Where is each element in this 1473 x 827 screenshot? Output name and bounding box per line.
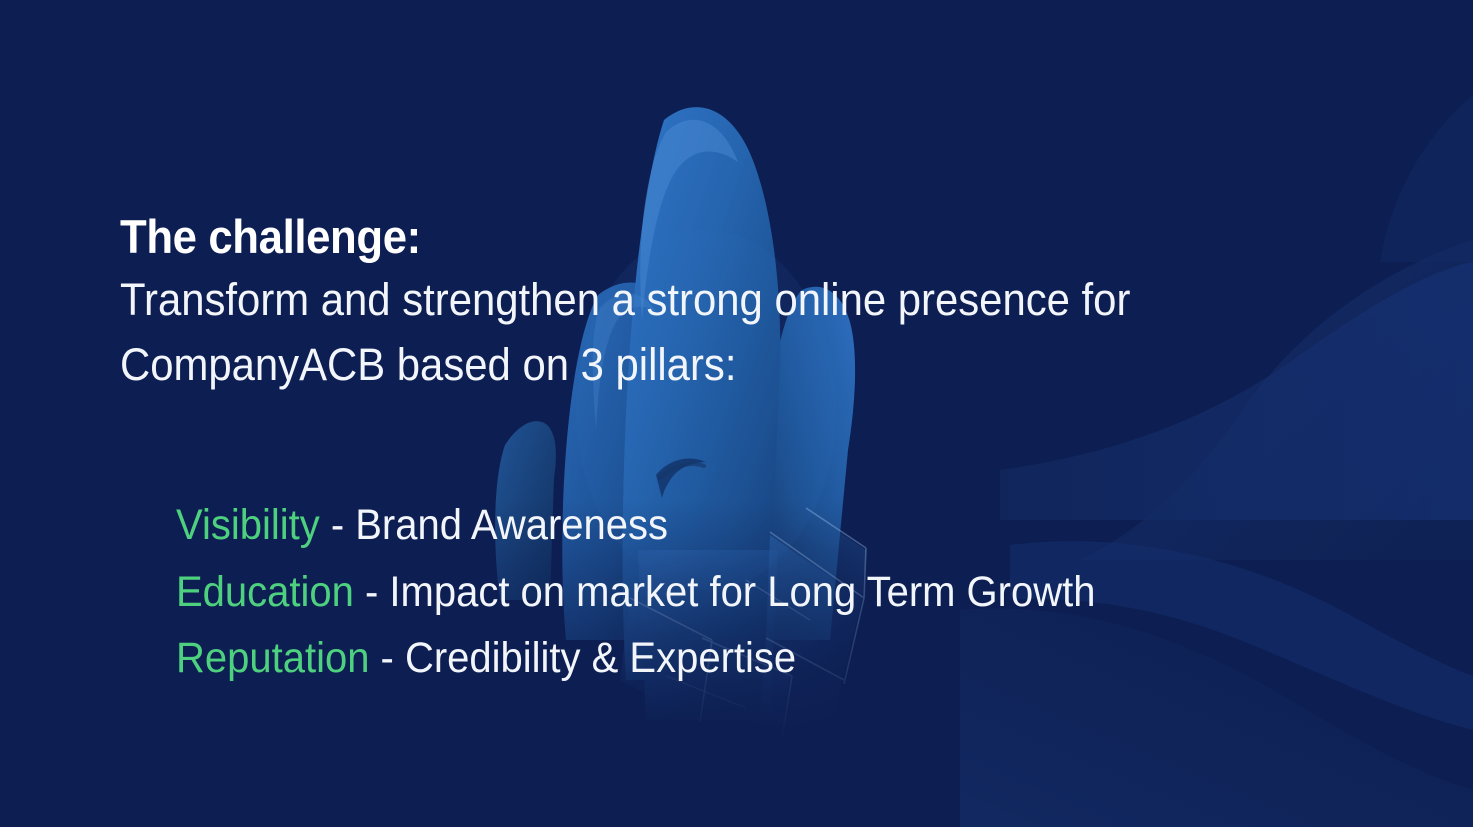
pillar-description-education: - Impact on market for Long Term Growth <box>354 568 1096 616</box>
pillar-item: Education - Impact on market for Long Te… <box>176 559 1339 626</box>
pillars-list: Visibility - Brand Awareness Education -… <box>176 492 1426 692</box>
page-title: The challenge: <box>120 212 1283 263</box>
presentation-slide: The challenge: Transform and strengthen … <box>0 0 1473 827</box>
pillar-item: Reputation - Credibility & Expertise <box>176 625 1339 692</box>
pillar-description-reputation: - Credibility & Expertise <box>369 634 796 682</box>
pillar-keyword-reputation: Reputation <box>176 634 369 682</box>
pillar-item: Visibility - Brand Awareness <box>176 492 1339 559</box>
subhead-line-1: Transform and strengthen a strong online… <box>120 267 1283 332</box>
slide-content: The challenge: Transform and strengthen … <box>0 0 1473 827</box>
pillar-description-visibility: - Brand Awareness <box>320 501 668 549</box>
headline-block: The challenge: Transform and strengthen … <box>120 212 1370 397</box>
subhead-line-2: CompanyACB based on 3 pillars: <box>120 332 1283 397</box>
pillar-keyword-visibility: Visibility <box>176 501 320 549</box>
pillar-keyword-education: Education <box>176 568 354 616</box>
